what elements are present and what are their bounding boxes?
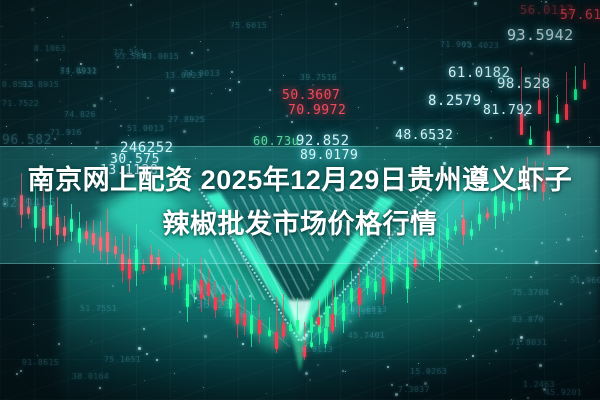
ticker-number: 45.7401	[348, 331, 385, 340]
ticker-number: 71.916	[50, 128, 82, 137]
ticker-number: 8.1063	[34, 44, 66, 53]
title-line-2: 辣椒批发市场价格行情	[0, 202, 600, 246]
cover-image: 93.594261.018298.5288.257981.79250.36077…	[0, 0, 600, 400]
ticker-number: 81.792	[483, 103, 533, 118]
ticker-number: 60.73u	[253, 134, 299, 148]
ticker-number: 50.3607	[282, 88, 340, 103]
ticker-number: 75.3704	[512, 288, 549, 297]
ticker-number: 75.1651	[104, 355, 141, 364]
ticker-number: 74.9013	[183, 69, 220, 78]
ticker-number: 96.582	[2, 133, 52, 148]
ticker-number: 71.8031	[510, 338, 547, 347]
ticker-number: 51.0013	[127, 124, 164, 133]
ticker-number: 51.9603	[570, 276, 600, 285]
ticker-number: 38.0164	[72, 372, 109, 381]
ticker-number: 45.9201	[545, 388, 582, 397]
ticker-number: 51.7551	[80, 304, 117, 313]
ticker-number: 8.2579	[428, 93, 482, 109]
ticker-number: 7.3037	[398, 385, 430, 394]
ticker-number: 39.7516	[300, 73, 337, 82]
ticker-number: 71.7522	[2, 99, 39, 108]
ticker-number: 92.8915	[22, 80, 59, 89]
ticker-number: 91.8615	[22, 358, 59, 367]
ticker-number: 83.870	[512, 315, 544, 324]
ticker-number: 74.826	[64, 110, 96, 119]
ticker-number: 74.8931	[60, 66, 97, 75]
ticker-number: 93.5942	[507, 26, 574, 44]
ticker-number: 43.0015	[142, 52, 179, 61]
ticker-number: 57.618	[560, 8, 600, 23]
page-title: 南京网上配资 2025年12月29日贵州遵义虾子 辣椒批发市场价格行情	[0, 158, 600, 246]
ticker-number: 27.8925	[168, 115, 205, 124]
ticker-number: 98.528	[497, 76, 551, 92]
ticker-number: 48.6532	[395, 128, 453, 143]
ticker-number: 15.0263	[410, 367, 447, 376]
ticker-number: 47.6019	[224, 310, 261, 319]
ticker-number: 36.8113	[296, 345, 333, 354]
ticker-number: 18.9013	[345, 307, 382, 316]
ticker-number: 75.6015	[230, 21, 267, 30]
ticker-number: 29.0036	[188, 283, 242, 297]
ticker-number: 73.4023	[462, 41, 499, 50]
title-line-1: 南京网上配资 2025年12月29日贵州遵义虾子	[0, 158, 600, 202]
ticker-number: 92.852	[296, 133, 350, 149]
ticker-number: 70.9972	[288, 103, 346, 118]
